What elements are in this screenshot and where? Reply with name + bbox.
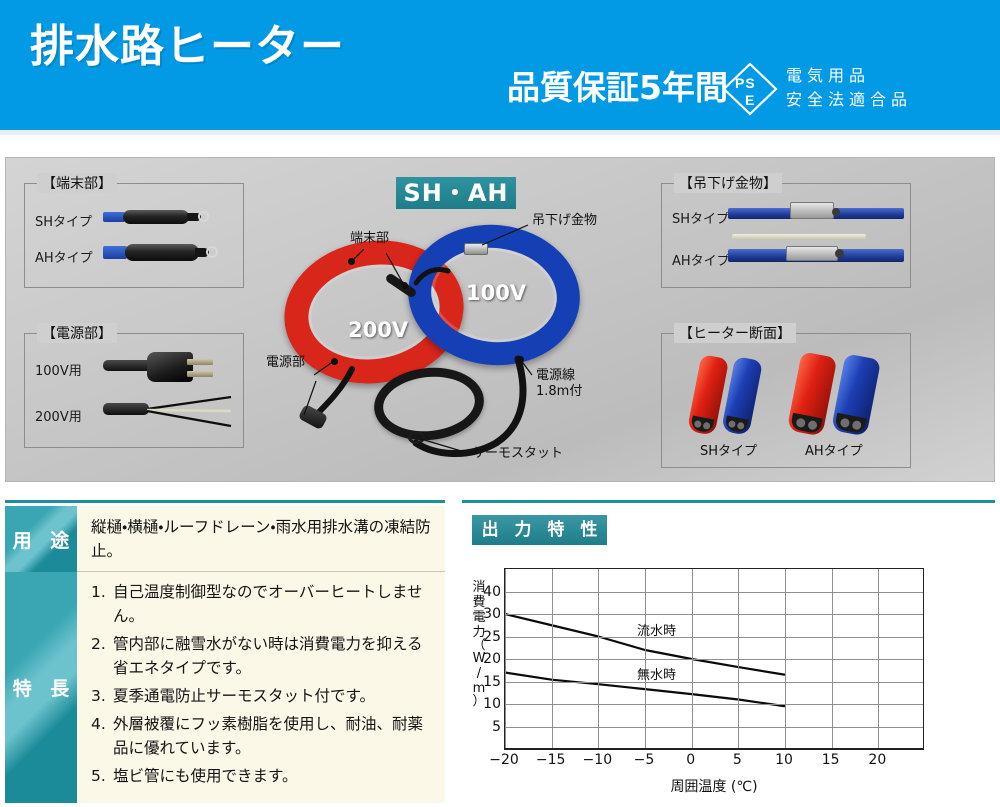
chart-gridline-horizontal	[505, 727, 923, 728]
power-100v-label: 100V用	[35, 360, 82, 379]
chart-x-tick-label: 5	[733, 752, 742, 768]
chart-x-tick-label: −10	[583, 752, 613, 768]
chart-gridline-vertical	[645, 569, 646, 748]
pse-certification-mark: PS E 電気用品 安全法適合品	[722, 62, 912, 116]
chart-plot-area: 5101520253040流水時無水時	[504, 568, 924, 748]
voltage-label-100v: 100V	[466, 281, 526, 305]
plug-body	[147, 352, 193, 382]
list-item: 3. 夏季通電防止サーモスタット付です。	[91, 684, 437, 708]
chart-x-tick-label: 20	[868, 752, 886, 768]
page-title: 排水路ヒーター	[30, 22, 345, 72]
terminal-ah-label: AHタイプ	[35, 247, 93, 266]
terminal-body	[123, 210, 189, 224]
pse-letters: PS E	[722, 62, 778, 116]
pse-description-line1: 電気用品	[786, 64, 912, 88]
chart-x-tick-label: −5	[634, 752, 655, 768]
photo-plug-body	[298, 404, 328, 430]
spec-side-column: 用 途 特 長	[5, 506, 77, 803]
chart-y-tick-label: 5	[492, 720, 501, 734]
spec-use-text: 縦樋・横樋・ルーフドレーン・雨水用排水溝の凍結防止。	[77, 506, 445, 572]
callout-dot	[348, 258, 355, 265]
terminal-ring	[198, 211, 209, 222]
list-item-text: 塩ビ管にも使用できます。	[113, 764, 437, 788]
chart-y-tick-label: 30	[483, 607, 501, 621]
cross-section-sh-art	[692, 356, 782, 436]
pse-e-label: E	[745, 93, 754, 107]
chart-gridline-vertical	[692, 569, 693, 748]
chart-y-tick-label: 15	[483, 675, 501, 689]
model-banner: SH・AH	[396, 177, 516, 209]
spec-label-features: 特 長	[5, 572, 77, 803]
list-item: 4. 外層被覆にフッ素樹脂を使用し、耐油、耐薬品に優れています。	[91, 712, 437, 760]
chart-gridline-horizontal	[505, 592, 923, 593]
spec-table: 用 途 特 長 縦樋・横樋・ルーフドレーン・雨水用排水溝の凍結防止。 1. 自己…	[5, 500, 445, 800]
chart-gridline-vertical	[505, 569, 506, 748]
chart-x-tick-label: 0	[686, 752, 695, 768]
callout-power-part: 電源部	[266, 355, 305, 371]
callout-thermostat: サーモスタット	[472, 446, 563, 462]
cable-blue-segment	[103, 212, 125, 222]
pse-description-line2: 安全法適合品	[786, 88, 912, 112]
power-plug-100v-art	[103, 352, 223, 386]
list-item: 5. 塩ビ管にも使用できます。	[91, 764, 437, 788]
chart-y-tick-label: 20	[483, 652, 501, 666]
callout-dot	[517, 356, 524, 363]
list-item-number: 4.	[91, 712, 113, 760]
chart-x-tick-label: 10	[775, 752, 793, 768]
header-divider	[0, 130, 1000, 135]
fieldbox-terminal-legend: 【端末部】	[37, 173, 117, 193]
voltage-label-200v: 200V	[348, 318, 408, 342]
power-leads-200v-art	[103, 396, 233, 430]
chart-gridline-vertical	[738, 569, 739, 748]
fieldbox-power-part: 【電源部】 100V用 200V用	[24, 333, 244, 448]
bare-leads-icon	[145, 396, 235, 430]
chart-gridline-vertical	[552, 569, 553, 748]
chart-y-tick-label: 25	[483, 630, 501, 644]
page-header: 排水路ヒーター 品質保証5年間 PS E 電気用品 安全法適合品	[0, 0, 1000, 130]
tube-face	[790, 413, 823, 434]
hanger-rivet	[835, 249, 844, 258]
terminal-ah-art	[103, 244, 221, 261]
plug-prong	[187, 359, 213, 365]
chart-y-tick-label: 10	[483, 697, 501, 711]
list-item-number: 2.	[91, 632, 113, 680]
hanger-clip	[790, 202, 834, 219]
terminal-ring	[206, 246, 218, 258]
chart-x-tick-label: −15	[536, 752, 566, 768]
chart-gridline-vertical	[598, 569, 599, 748]
pse-description: 電気用品 安全法適合品	[786, 64, 912, 112]
photo-thermostat	[408, 431, 425, 444]
warranty-text: 品質保証5年間	[507, 70, 728, 106]
cable-blue-segment	[103, 246, 127, 259]
hanger-ah-art	[728, 244, 904, 266]
callout-hanger: 吊下げ金物	[532, 213, 597, 229]
chart-gridline-horizontal	[505, 704, 923, 705]
output-characteristics-section: 出 力 特 性 消費電力（W/m） 5101520253040流水時無水時 −2…	[462, 500, 995, 800]
tube-face	[834, 413, 867, 434]
chart-gridline-horizontal	[505, 682, 923, 683]
chart-gridline-horizontal	[505, 614, 923, 615]
fieldbox-power-legend: 【電源部】	[37, 323, 117, 343]
chart-x-tick-label: −20	[489, 752, 519, 768]
chart-gridline-vertical	[832, 569, 833, 748]
chart-gridline-horizontal	[505, 637, 923, 638]
list-item-text: 夏季通電防止サーモスタット付です。	[113, 684, 437, 708]
cross-section-sh-caption: SHタイプ	[700, 440, 757, 459]
callout-terminal-part: 端末部	[350, 231, 389, 247]
list-item-number: 5.	[91, 764, 113, 788]
callout-dot	[401, 282, 408, 289]
power-200v-label: 200V用	[35, 406, 82, 425]
callout-dot	[331, 358, 338, 365]
lead-cord	[103, 403, 149, 415]
list-item: 2. 管内部に融雪水がない時は消費電力を抑える省エネタイプです。	[91, 632, 437, 680]
cross-section-ah-caption: AHタイプ	[805, 440, 863, 459]
hanger-cable-tie	[732, 234, 866, 239]
fieldbox-hanger-part: 【吊下げ金物】 SHタイプ AHタイプ	[661, 183, 911, 288]
plug-prong	[187, 371, 213, 377]
chart-title: 出 力 特 性	[472, 515, 607, 545]
pse-ps-label: PS	[735, 76, 756, 90]
spec-label-use: 用 途	[5, 506, 77, 572]
list-item: 1. 自己温度制御型なのでオーバーヒートしません。	[91, 580, 437, 628]
terminal-sh-label: SHタイプ	[35, 211, 92, 230]
callout-power-cord: 電源線 1.8m付	[536, 368, 582, 400]
chart-x-axis	[504, 748, 924, 750]
callout-power-cord-line1: 電源線	[536, 368, 582, 384]
list-item-text: 管内部に融雪水がない時は消費電力を抑える省エネタイプです。	[113, 632, 437, 680]
photo-hanger-clip	[464, 243, 488, 255]
chart-x-tick-label: 15	[822, 752, 840, 768]
terminal-sh-art	[103, 210, 213, 224]
callout-power-cord-line2: 1.8m付	[536, 384, 582, 400]
terminal-body	[125, 244, 199, 261]
spec-feature-list: 1. 自己温度制御型なのでオーバーヒートしません。 2. 管内部に融雪水がない時…	[77, 572, 445, 803]
hanger-sh-art	[728, 202, 904, 224]
chart-gridline-vertical	[785, 569, 786, 748]
hanger-ah-label: AHタイプ	[672, 250, 730, 269]
fieldbox-hanger-legend: 【吊下げ金物】	[674, 173, 782, 193]
chart-gridline-horizontal	[505, 659, 923, 660]
product-diagram-panel: 【端末部】 SHタイプ AHタイプ 【電源部】 100V用 200V用	[5, 157, 995, 482]
fieldbox-terminal-part: 【端末部】 SHタイプ AHタイプ	[24, 183, 244, 288]
chart-series-label: 流水時	[637, 620, 676, 639]
product-photo: SH・AH 200V 100V	[256, 163, 656, 481]
list-item-number: 3.	[91, 684, 113, 708]
chart-x-axis-label: 周囲温度 (℃)	[504, 776, 924, 796]
fieldbox-heater-cross-section: 【ヒーター断面】 SHタイプ	[661, 333, 911, 468]
chart-area: 消費電力（W/m） 5101520253040流水時無水時 −20−15−10−…	[462, 558, 995, 803]
fieldbox-section-legend: 【ヒーター断面】	[674, 323, 796, 343]
list-item-text: 自己温度制御型なのでオーバーヒートしません。	[113, 580, 437, 628]
hanger-sh-label: SHタイプ	[672, 208, 729, 227]
chart-y-tick-label: 40	[483, 585, 501, 599]
chart-gridline-vertical	[878, 569, 879, 748]
cross-section-ah-art	[792, 354, 892, 436]
tube-blue	[831, 353, 881, 436]
spec-body-column: 縦樋・横樋・ルーフドレーン・雨水用排水溝の凍結防止。 1. 自己温度制御型なので…	[77, 506, 445, 803]
hanger-clip	[786, 246, 838, 261]
list-item-text: 外層被覆にフッ素樹脂を使用し、耐油、耐薬品に優れています。	[113, 712, 437, 760]
tube-red	[787, 351, 838, 436]
list-item-number: 1.	[91, 580, 113, 628]
chart-series-label: 無水時	[637, 664, 676, 683]
hanger-rivet	[832, 208, 840, 216]
